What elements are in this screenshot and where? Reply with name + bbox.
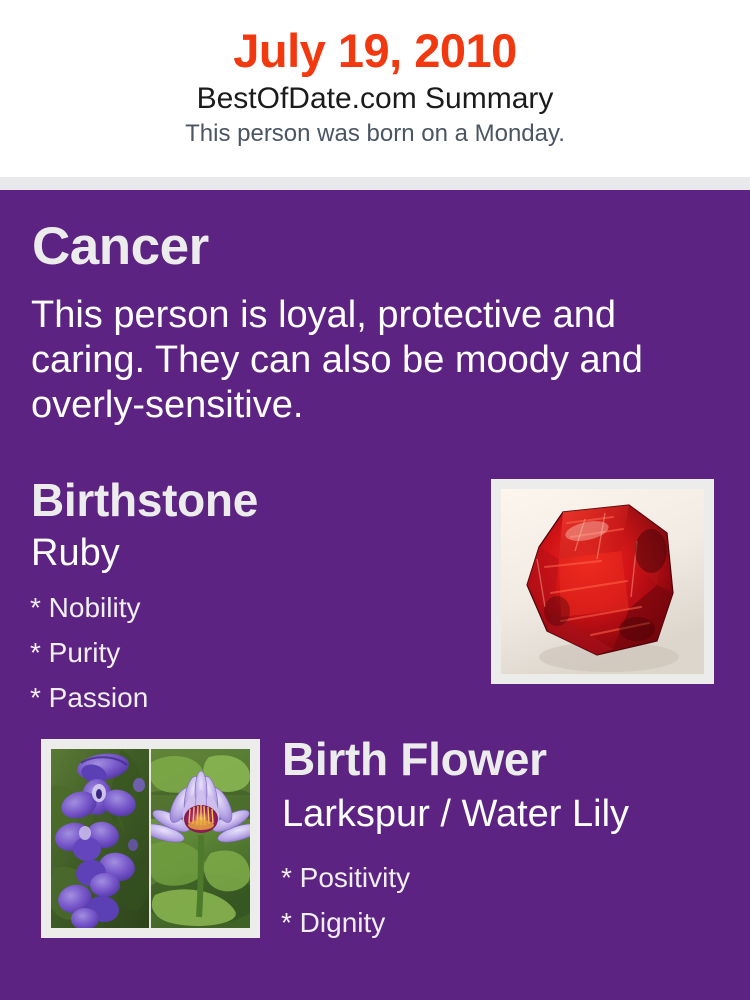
list-item: * Positivity xyxy=(281,855,410,900)
birthstone-heading: Birthstone xyxy=(31,477,258,523)
site-summary-subtitle: BestOfDate.com Summary xyxy=(0,75,750,115)
page-title-date: July 19, 2010 xyxy=(0,0,750,75)
birthstone-trait-list: * Nobility * Purity * Passion xyxy=(30,585,148,720)
ruby-gemstone-icon xyxy=(501,489,704,674)
birth-flower-photo-frame xyxy=(41,739,260,938)
birthstone-name: Ruby xyxy=(31,534,120,572)
list-item: * Nobility xyxy=(30,585,148,630)
list-item: * Dignity xyxy=(281,900,410,945)
larkspur-water-lily-icon xyxy=(51,749,250,928)
birth-flower-heading: Birth Flower xyxy=(282,736,547,782)
born-weekday-note: This person was born on a Monday. xyxy=(0,115,750,147)
birthday-summary-card: July 19, 2010 BestOfDate.com Summary Thi… xyxy=(0,0,750,1000)
list-item: * Passion xyxy=(30,675,148,720)
list-item: * Purity xyxy=(30,630,148,675)
zodiac-description: This person is loyal, protective and car… xyxy=(31,293,661,428)
birthstone-photo xyxy=(501,489,704,674)
card-header: July 19, 2010 BestOfDate.com Summary Thi… xyxy=(0,0,750,177)
birth-flower-photo xyxy=(51,749,250,928)
birthstone-photo-frame xyxy=(491,479,714,684)
birth-flower-name: Larkspur / Water Lily xyxy=(282,795,629,833)
zodiac-sign-name: Cancer xyxy=(32,220,209,273)
header-divider xyxy=(0,177,750,190)
birth-flower-trait-list: * Positivity * Dignity xyxy=(281,855,410,945)
